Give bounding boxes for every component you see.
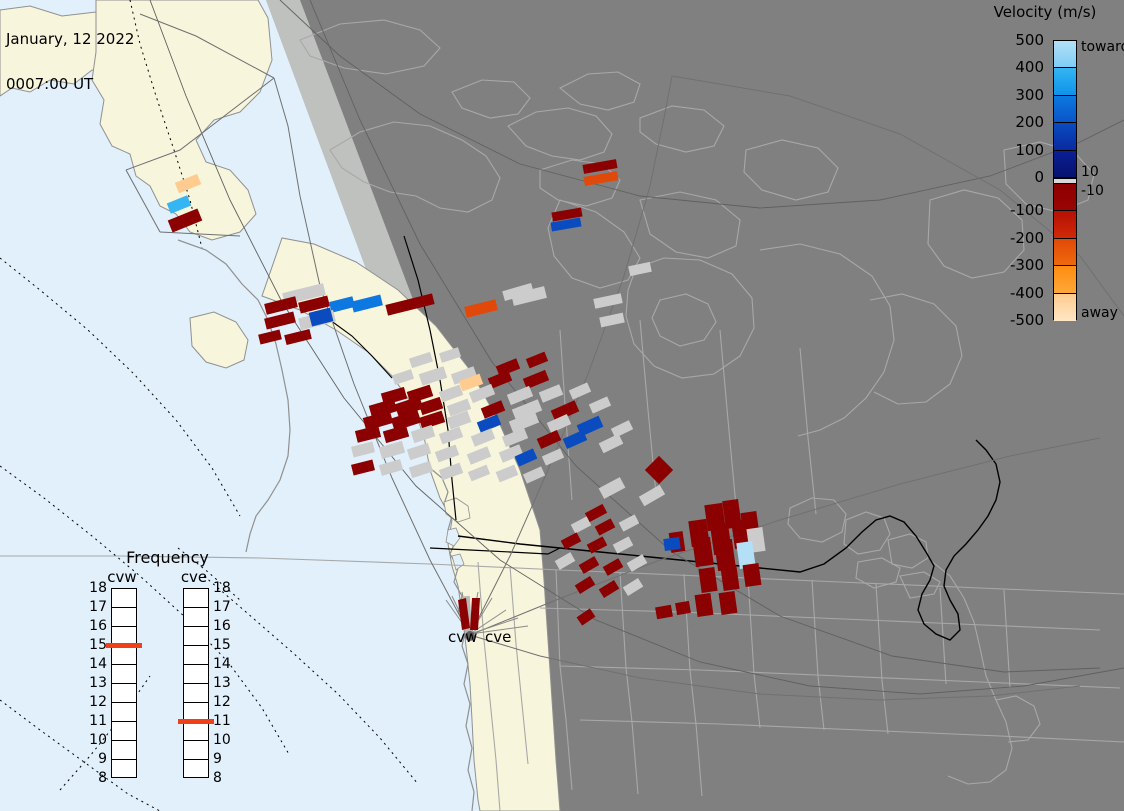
- colorbar-tick: 200: [980, 113, 1044, 131]
- frequency-legend-title: Frequency: [85, 548, 250, 567]
- colorbar-tick: 500: [980, 31, 1044, 49]
- velocity-cell: [663, 537, 681, 551]
- date-label: January, 12 2022: [6, 32, 134, 47]
- frequency-tick: 12: [213, 694, 235, 710]
- colorbar-segment: [1054, 151, 1076, 178]
- velocity-cell: [720, 565, 739, 591]
- frequency-tick: 17: [85, 599, 107, 615]
- colorbar-tick: 400: [980, 58, 1044, 76]
- frequency-tick: 16: [213, 618, 235, 634]
- frequency-tick: 11: [85, 713, 107, 729]
- colorbar-segment: [1054, 239, 1076, 266]
- frequency-tick: 15: [213, 637, 235, 653]
- frequency-scale-cell: [112, 741, 136, 760]
- frequency-scale-cell: [184, 627, 208, 646]
- frequency-tick: 13: [85, 675, 107, 691]
- colorbar-tick: -100: [980, 201, 1044, 219]
- colorbar-gradient-bar[interactable]: [1053, 40, 1077, 320]
- frequency-tick: 11: [213, 713, 235, 729]
- colorbar-segment: [1054, 184, 1076, 211]
- frequency-bar-cvw[interactable]: [111, 588, 137, 778]
- colorbar-title: Velocity (m/s): [975, 3, 1115, 21]
- frequency-scale-cell: [184, 741, 208, 760]
- frequency-scale-cell: [112, 722, 136, 741]
- frequency-legend: Frequency cvw cve 18171615141312111098 1…: [85, 548, 250, 788]
- frequency-scale-cell: [112, 608, 136, 627]
- velocity-cell: [695, 593, 714, 617]
- timestamp-block: January, 12 2022 0007:00 UT: [6, 2, 134, 122]
- colorbar-segment: [1054, 68, 1076, 95]
- frequency-scale-cell: [184, 589, 208, 608]
- frequency-tick: 15: [85, 637, 107, 653]
- frequency-scale-cell: [184, 684, 208, 703]
- frequency-column-label-cve: cve: [171, 568, 217, 586]
- frequency-tick: 18: [213, 580, 235, 596]
- colorbar-tick: 0: [980, 168, 1044, 186]
- colorbar-segment: [1054, 96, 1076, 123]
- velocity-cell: [675, 601, 691, 615]
- frequency-scale-cell: [112, 646, 136, 665]
- frequency-tick: 17: [213, 599, 235, 615]
- velocity-colorbar: Velocity (m/s) 5004003002001000-100-200-…: [965, 0, 1124, 340]
- frequency-scale-cell: [112, 589, 136, 608]
- frequency-scale-cell: [184, 760, 208, 779]
- site-label-cve: cve: [485, 628, 511, 646]
- frequency-scale-cell: [112, 760, 136, 779]
- colorbar-positive-threshold-label: 10: [1081, 164, 1099, 180]
- frequency-tick: 14: [85, 656, 107, 672]
- frequency-marker-cvw: [106, 643, 142, 648]
- velocity-cell: [743, 563, 762, 587]
- site-label-cvw: cvw: [448, 628, 477, 646]
- velocity-cell: [719, 591, 738, 615]
- colorbar-tick: -500: [980, 311, 1044, 329]
- colorbar-tick: 100: [980, 141, 1044, 159]
- frequency-tick: 8: [213, 770, 235, 786]
- frequency-tick: 14: [213, 656, 235, 672]
- superdarn-velocity-map: January, 12 2022 0007:00 UT Velocity (m/…: [0, 0, 1124, 811]
- frequency-tick: 9: [213, 751, 235, 767]
- colorbar-segment: [1054, 294, 1076, 321]
- colorbar-segment: [1054, 266, 1076, 293]
- frequency-tick: 10: [85, 732, 107, 748]
- time-label: 0007:00 UT: [6, 77, 134, 92]
- colorbar-toward-label: toward: [1081, 39, 1124, 55]
- frequency-tick: 8: [85, 770, 107, 786]
- frequency-tick: 18: [85, 580, 107, 596]
- frequency-tick: 9: [85, 751, 107, 767]
- colorbar-segment: [1054, 211, 1076, 238]
- colorbar-away-label: away: [1081, 305, 1118, 321]
- frequency-tick: 12: [85, 694, 107, 710]
- velocity-cell: [698, 567, 717, 593]
- frequency-bar-cve[interactable]: [183, 588, 209, 778]
- frequency-scale-cell: [184, 722, 208, 741]
- frequency-scale-cell: [112, 665, 136, 684]
- frequency-scale-cell: [184, 665, 208, 684]
- frequency-tick: 10: [213, 732, 235, 748]
- colorbar-tick: 300: [980, 86, 1044, 104]
- frequency-marker-cve: [178, 719, 214, 724]
- frequency-scale-cell: [184, 608, 208, 627]
- colorbar-segment: [1054, 41, 1076, 68]
- colorbar-negative-threshold-label: -10: [1081, 183, 1104, 199]
- frequency-scale-cell: [112, 684, 136, 703]
- colorbar-tick: -300: [980, 256, 1044, 274]
- frequency-tick: 13: [213, 675, 235, 691]
- frequency-tick: 16: [85, 618, 107, 634]
- frequency-scale-cell: [112, 703, 136, 722]
- frequency-scale-cell: [184, 646, 208, 665]
- colorbar-tick: -200: [980, 229, 1044, 247]
- colorbar-tick: -400: [980, 284, 1044, 302]
- colorbar-segment: [1054, 123, 1076, 150]
